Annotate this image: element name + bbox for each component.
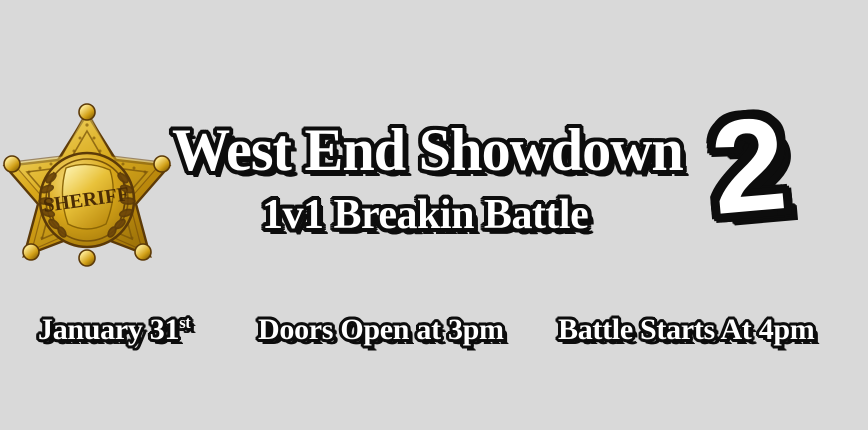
page-subtitle: 1v1 Breakin Battle [262, 192, 588, 238]
event-date-ordinal: st [179, 313, 190, 332]
event-date-text: January 31 [38, 313, 179, 346]
doors-open-time: Doors Open at 3pm [258, 308, 504, 352]
sheriff-star-badge-icon: SHERIFF SHERIFF [2, 98, 172, 270]
edition-number: 2 [706, 97, 791, 235]
event-flyer: SHERIFF SHERIFF West End Showdown 2 1v1 … [0, 0, 868, 430]
event-date: January 31st [38, 308, 191, 352]
event-details-row: January 31st Doors Open at 3pm Battle St… [0, 308, 868, 360]
battle-start-time: Battle Starts At 4pm [558, 308, 814, 352]
page-title: West End Showdown [172, 118, 683, 182]
